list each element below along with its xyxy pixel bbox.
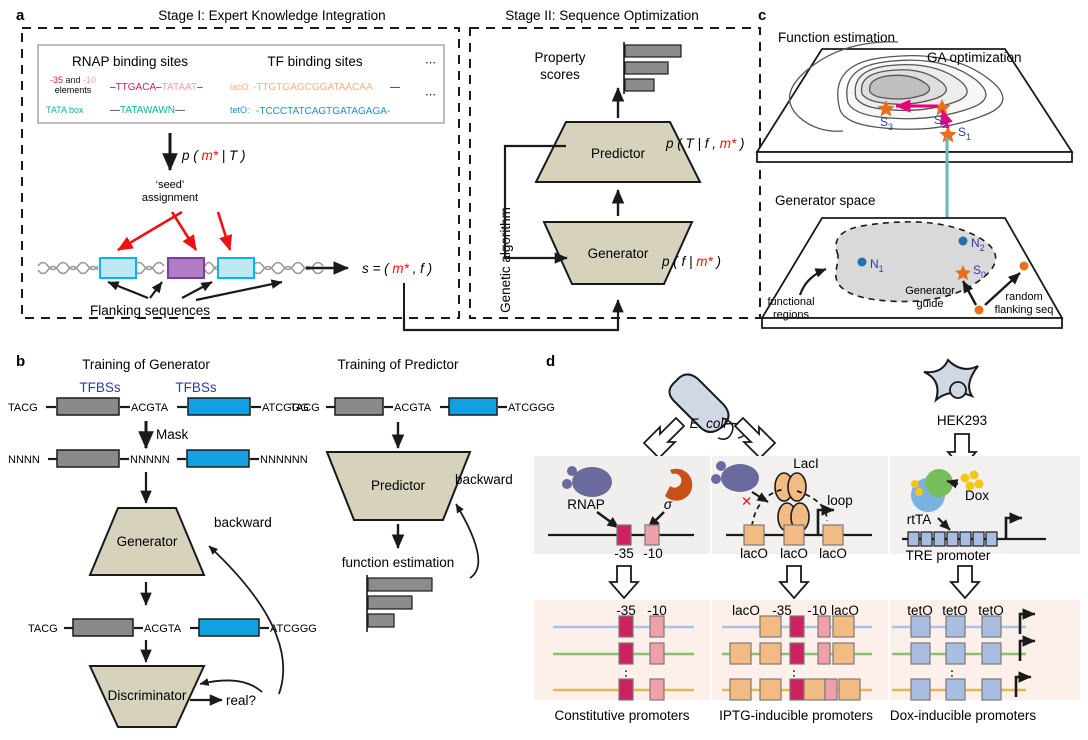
dox-free-2 [970,471,979,480]
laco-label-2: lacO [780,546,808,561]
top-plane-edge [757,152,1072,162]
predictor-label-b: Predictor [371,478,426,493]
backward-curve-pred [456,504,478,578]
minus10-label-top: -10 [643,546,663,561]
flanking-sequences-label: Flanking sequences [90,303,210,318]
laco-seq: -TTGTGAGCGGATAACAA [253,82,373,93]
seqm-left: NNNN [8,454,40,466]
ga-optimization-label: GA optimization [927,50,1022,65]
motif-block-blue-2 [218,258,254,278]
loop-label: loop [827,493,853,508]
lib2-m35-3 [790,679,804,700]
teto-name: tetO: [230,105,250,115]
red-arrow-1 [118,212,182,250]
property-bar-1 [625,45,681,57]
seqm-right: NNNNNN [260,454,308,466]
elements-label: elements [55,85,92,95]
stage1-title: Stage I: Expert Knowledge Integration [158,8,385,23]
figure-canvas: a Stage I: Expert Knowledge Integration … [0,0,1088,740]
hollow-arrow-down-2 [780,566,808,598]
rnap-label: RNAP [567,497,605,512]
tf-binding-sites-header: TF binding sites [267,54,363,69]
lib2-laco-3a [730,679,751,700]
generator-label: Generator [588,246,649,261]
discriminator-label: Discriminator [108,688,187,703]
hollow-arrow-down-3 [951,566,979,598]
seqp-gray-block [335,398,383,415]
seqp-right: ATCGGG [508,402,555,414]
generator-space-title: Generator space [775,193,876,208]
tata-box-label: TATA box [46,105,84,115]
laco-block-2 [784,525,804,545]
lib2-m35-2 [790,643,804,664]
lib1-m10-1 [650,616,664,637]
lib2-laco-label: lacO [732,603,760,618]
iptg-caption: IPTG-inducible promoters [719,708,873,723]
laco-name: lacO: [230,82,251,92]
generator-label-b: Generator [117,534,178,549]
seq3-blue-block [199,619,259,636]
seq1-gray-block [57,398,119,415]
lib1-m10-2 [650,643,664,664]
seq1-mid: ACGTA [131,402,169,414]
rnap-sub-1 [567,466,577,476]
lib1-m35-1 [619,616,633,637]
seqm-blue-block [187,450,249,467]
prob-predictor-label: p ( T | f , m* ) [665,136,745,151]
seqm-mid: NNNNN [130,454,170,466]
laci-label: LacI [793,456,819,471]
backward-label-2: backward [455,472,513,487]
lib1-m35-3 [619,679,633,700]
hollow-arrow-right [735,418,775,458]
lib2-laco-2c [833,643,854,664]
ecoli-label: E. coli [690,416,728,431]
seqp-blue-block [449,398,497,415]
functional-regions-line2: regions [773,309,810,321]
random-flanking-line1: random [1005,291,1042,303]
real-label: real? [226,693,256,708]
function-estimation-label: function estimation [342,555,455,570]
property-scores-line1: Property [534,50,585,65]
lib3-teto-3b [946,679,965,700]
lib3-teto-2a [911,643,930,664]
training-predictor-title: Training of Predictor [337,357,459,372]
laco-tail-dash: — [390,82,400,93]
point-random-2 [975,306,984,315]
lib3-teto-2b [946,643,965,664]
lib2-laco-2a [730,643,751,664]
lib2-laco-3c [804,679,825,700]
dox-caption: Dox-inducible promoters [890,708,1037,723]
seed-label-line1: ‘seed’ [156,179,185,191]
lib1-m35-2 [619,643,633,664]
rnap-seq-row1: –TTGACA–TATAAT– [110,82,203,93]
training-generator-title: Training of Generator [82,357,210,372]
ellipsis-mid: ⋯ [425,89,436,101]
point-random-1 [1020,262,1029,271]
prob-seed-label: p ( m* | T ) [181,148,246,163]
seed-label-line2: assignment [142,192,198,204]
rtta-green [925,469,953,497]
red-arrow-3 [218,212,230,250]
prob-generator-label: p ( f | m* ) [661,254,721,269]
lib2-laco-2b [760,643,781,664]
funcest-bar-1 [368,578,432,591]
red-arrow-2 [172,212,196,250]
seq3-left: TACG [28,623,58,635]
lib1-m10-3 [650,679,664,700]
tfbss-label-1: TFBSs [79,380,121,395]
s-equation: s = ( m* , f ) [362,261,432,276]
dox-bound-2 [915,488,923,496]
minus35-minus10-elements-label: -35 and -10 [50,75,96,85]
lib2-m10-1 [818,616,830,637]
x-mark-icon: ✕ [741,494,752,509]
seq3-mid: ACGTA [144,623,182,635]
mask-label: Mask [156,427,189,442]
funcest-bar-3 [368,614,394,627]
rnap2-sub-2 [711,474,721,484]
lib3-teto-2c [982,643,1001,664]
hollow-arrow-left [644,418,684,458]
laco-block-3 [823,525,843,545]
lib3-teto-1a [911,616,930,637]
rnap-seq-row2: —TATAWAWN— [110,105,185,116]
lib3-teto-1b [946,616,965,637]
panel-letter-a: a [16,7,25,24]
generator-guide-line2: guide [917,298,944,310]
flank-arrow-2 [150,282,162,298]
property-scores-line2: scores [540,67,580,82]
seq3-right: ATCGGG [270,623,317,635]
laco-label-3: lacO [819,546,847,561]
tfbss-label-2: TFBSs [175,380,217,395]
funcest-bar-2 [368,596,412,609]
rnap2-sub-1 [716,461,726,471]
property-bar-2 [625,62,668,74]
seq1-blue-block [188,398,250,415]
hollow-arrow-down-1 [610,566,638,598]
random-flanking-line2: flanking seq [995,304,1054,316]
generator-guide-line1: Generator [905,285,955,297]
seq3-gray-block [73,619,133,636]
dox-bound-1 [911,480,919,488]
lib3-teto-1c [982,616,1001,637]
seq1-left: TACG [8,402,38,414]
laco-block-1 [744,525,764,545]
seqp-left: TACG [290,402,320,414]
hek-label: HEK293 [937,413,987,428]
lib2-m10-3 [825,679,837,700]
lib2-laco-1b [833,616,854,637]
ellipsis-top: ⋯ [425,57,436,69]
lib2-m35-1 [790,616,804,637]
flank-arrow-1 [108,282,148,298]
dox-free-1 [961,474,970,483]
tre-repeat-blocks [908,532,997,546]
rnap-sub-2 [562,479,572,489]
lib2-m10-2 [818,643,830,664]
dox-label: Dox [965,488,989,503]
lib3-teto-3a [911,679,930,700]
rtta-label: rtTA [907,512,932,527]
hek-nucleus [950,382,966,398]
motif-block-purple [168,258,204,278]
rnap-binding-sites-header: RNAP binding sites [72,54,188,69]
laco-label-1: lacO [740,546,768,561]
flank-arrow-3 [182,282,212,298]
functional-regions-line1: functional [767,296,814,308]
lib2-laco-3d [839,679,860,700]
lib2-laco-3b [760,679,781,700]
figure-root: a Stage I: Expert Knowledge Integration … [0,0,1088,740]
seqp-mid: ACGTA [394,402,432,414]
minus35-block-top [617,525,631,545]
predictor-label: Predictor [591,146,646,161]
minus35-label-top: -35 [614,546,634,561]
lib2-laco-1a [760,616,781,637]
tre-promoter-label: TRE promoter [906,548,991,563]
panel-letter-c: c [758,7,766,24]
panel-letter-b: b [16,353,25,370]
seqm-gray-block [57,450,119,467]
point-n2 [959,237,968,246]
teto-seq: -TCCCTATCAGTGATAGAGA- [256,106,390,117]
sigma-label: σ [664,497,673,512]
laci-top-2 [788,473,806,501]
real-to-disc-curve [200,680,262,692]
rnap-body [572,467,612,497]
panel-letter-d: d [546,353,555,370]
point-n1 [858,258,867,267]
stage2-title: Stage II: Sequence Optimization [505,8,699,23]
minus10-block-top [645,525,659,545]
rnap-body-2 [721,464,759,492]
property-bar-3 [625,79,654,91]
backward-label-1: backward [214,515,272,530]
constitutive-caption: Constitutive promoters [554,708,689,723]
lib3-teto-3c [982,679,1001,700]
motif-block-blue-1 [100,258,136,278]
